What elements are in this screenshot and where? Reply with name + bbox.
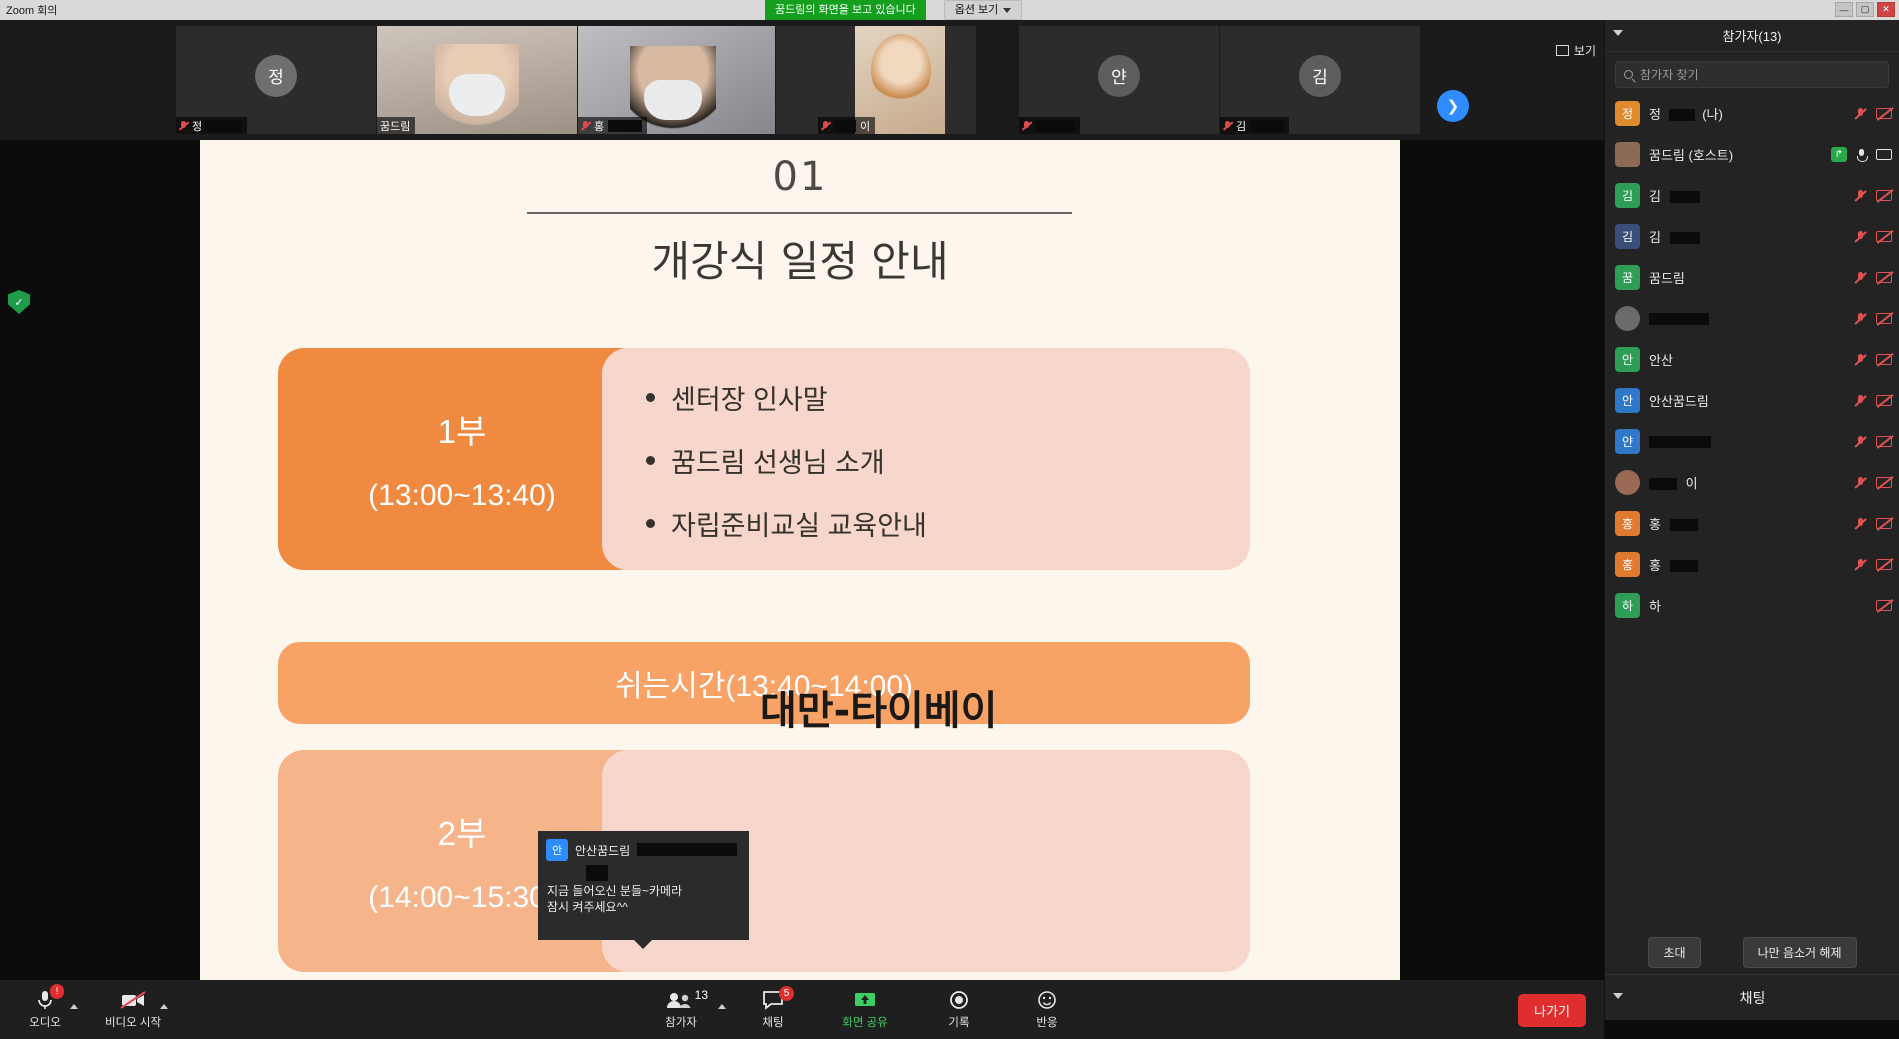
redacted-name — [1670, 519, 1698, 531]
avatar: 정 — [255, 55, 297, 97]
mic-muted-icon — [1854, 230, 1867, 244]
participant-name: 안산 — [1649, 350, 1854, 369]
session2-time: (14:00~15:30) — [368, 881, 556, 915]
shared-screen-area: 01 개강식 일정 안내 1부 (13:00~13:40) 센터장 인사말 꿈드… — [0, 140, 1604, 990]
audio-button[interactable]: 오디오 ! — [14, 980, 76, 1039]
reactions-icon — [1037, 989, 1057, 1011]
participant-row[interactable]: 하 하 — [1605, 585, 1899, 626]
audio-label: 오디오 — [29, 1014, 61, 1030]
bullet-icon — [646, 456, 655, 465]
participant-name: 하 — [1649, 596, 1876, 615]
audio-alert-badge: ! — [50, 984, 64, 999]
video-tile-nameplate: 이 — [818, 117, 875, 134]
presentation-slide: 01 개강식 일정 안내 1부 (13:00~13:40) 센터장 인사말 꿈드… — [200, 140, 1400, 980]
mic-muted-icon — [1854, 394, 1867, 408]
record-icon — [949, 989, 969, 1011]
participant-status-icons — [1876, 600, 1892, 611]
grid-view-icon — [1556, 45, 1569, 56]
video-tile-nameplate: 정 — [176, 117, 247, 134]
participant-name: 이 — [1649, 473, 1854, 492]
participant-name: 김 — [1649, 227, 1854, 246]
chat-toast-message-line1: 지금 들어오신 분들~카메라 — [547, 883, 740, 899]
share-screen-icon — [853, 989, 877, 1011]
share-screen-button[interactable]: 화면 공유 — [828, 980, 902, 1039]
participant-name: 김 — [1649, 186, 1854, 205]
avatar: 김 — [1299, 55, 1341, 97]
video-tile-kim[interactable]: 김 김 — [1220, 26, 1420, 134]
minimize-button[interactable]: — — [1835, 2, 1853, 17]
leave-meeting-button[interactable]: 나가기 — [1518, 994, 1586, 1027]
participant-status-icons — [1854, 312, 1892, 326]
sharing-notice: 꿈드림의 화면을 보고 있습니다 — [765, 0, 926, 20]
participant-list[interactable]: 정 정 (나) 꿈드림 (호스트) ↱ — [1605, 93, 1899, 930]
camera-off-icon — [1876, 559, 1892, 570]
maximize-button[interactable]: ▢ — [1856, 2, 1874, 17]
mic-on-icon — [1856, 148, 1867, 162]
participants-panel-title: 참가자(13) — [1723, 26, 1782, 45]
agenda-item: 꿈드림 선생님 소개 — [646, 441, 1250, 480]
view-options-button[interactable]: 옵션 보기 — [944, 0, 1023, 20]
redacted-name — [1035, 120, 1075, 132]
video-tile-kkumdrim[interactable]: 꿈드림 — [377, 26, 577, 134]
video-tile-nameplate: 김 — [1220, 117, 1289, 134]
redacted-name — [834, 120, 856, 132]
redacted-name — [206, 120, 242, 132]
redacted-name — [1250, 120, 1284, 132]
mic-muted-icon — [1854, 517, 1867, 531]
chat-panel-title: 채팅 — [1740, 988, 1766, 1008]
avatar: 김 — [1615, 183, 1640, 208]
window-controls: — ▢ ✕ — [1835, 2, 1895, 17]
camera-off-icon — [1876, 272, 1892, 283]
participant-row[interactable]: 안 안산꿈드림 — [1605, 380, 1899, 421]
destination-label: 대만-타이베이 — [760, 678, 997, 736]
participant-name: 정 — [192, 118, 202, 134]
mic-muted-icon — [1022, 120, 1031, 132]
participants-menu-caret-icon[interactable] — [718, 1004, 726, 1009]
participant-status-icons — [1854, 476, 1892, 490]
chat-button[interactable]: 채팅 5 — [742, 980, 804, 1039]
reactions-label: 반응 — [1036, 1014, 1057, 1030]
avatar: 하 — [1615, 593, 1640, 618]
chat-toast-message-line2: 잠시 켜주세요^^ — [547, 899, 740, 915]
redacted-name — [1670, 560, 1698, 572]
video-thumbnail-strip: 정 정 꿈드림 홍 — [0, 20, 1604, 140]
camera-off-icon — [1876, 313, 1892, 324]
session1-time: (13:00~13:40) — [368, 479, 556, 513]
redacted-name — [608, 120, 642, 132]
camera-off-icon — [119, 989, 147, 1011]
session1-block: 1부 (13:00~13:40) — [278, 348, 646, 570]
participant-status-icons — [1854, 394, 1892, 408]
chevron-down-icon[interactable] — [1613, 30, 1623, 36]
avatar: 김 — [1615, 224, 1640, 249]
participant-row[interactable]: 이 — [1605, 462, 1899, 503]
agenda-item-label: 꿈드림 선생님 소개 — [671, 441, 885, 480]
participants-panel: 참가자(13) 참가자 찾기 정 정 (나) 꿈드림 ( — [1604, 20, 1899, 1020]
redacted-text — [586, 865, 608, 881]
search-icon — [1624, 70, 1633, 79]
avatar — [1615, 470, 1640, 495]
mic-muted-icon — [179, 120, 188, 132]
camera-off-icon — [1876, 518, 1892, 529]
redacted-name — [1669, 109, 1695, 121]
close-button[interactable]: ✕ — [1877, 2, 1895, 17]
video-tile-nameplate: 꿈드림 — [377, 117, 415, 134]
participants-panel-header: 참가자(13) — [1605, 20, 1899, 52]
mic-muted-icon — [821, 120, 830, 132]
participant-status-icons — [1854, 558, 1892, 572]
chat-panel-header[interactable]: 채팅 — [1605, 974, 1899, 1020]
participant-name: 홍 — [594, 118, 604, 134]
camera-off-icon — [1876, 231, 1892, 242]
chat-toast-sender: 안산꿈드림 — [575, 839, 630, 859]
next-page-button[interactable]: ❯ — [1437, 90, 1469, 122]
video-tile-hong[interactable]: 홍 — [578, 26, 775, 134]
redacted-name — [1649, 313, 1709, 325]
record-button[interactable]: 기록 — [928, 980, 990, 1039]
participants-icon — [666, 989, 696, 1011]
participant-name: 홍 — [1649, 555, 1854, 574]
reactions-button[interactable]: 반응 — [1016, 980, 1078, 1039]
share-screen-label: 화면 공유 — [842, 1014, 888, 1030]
camera-off-icon — [1876, 108, 1892, 119]
camera-off-icon — [1876, 477, 1892, 488]
participant-search-box[interactable]: 참가자 찾기 — [1615, 61, 1889, 88]
chevron-down-icon[interactable] — [1613, 993, 1623, 999]
participant-row[interactable]: 얀 — [1605, 421, 1899, 462]
mic-muted-icon — [1854, 476, 1867, 490]
window-title: Zoom 회의 — [6, 2, 57, 18]
participant-status-icons — [1854, 435, 1892, 449]
participant-row[interactable]: 안 안산 — [1605, 339, 1899, 380]
redacted-sender-suffix — [637, 843, 737, 856]
avatar — [1615, 142, 1640, 167]
agenda-item-label: 센터장 인사말 — [671, 378, 828, 417]
video-button[interactable]: 비디오 시작 — [102, 980, 164, 1039]
agenda-item: 센터장 인사말 — [646, 378, 1250, 417]
shield-icon: ✓ — [8, 290, 30, 314]
audio-menu-caret-icon[interactable] — [70, 1004, 78, 1009]
view-options-label: 옵션 보기 — [955, 0, 999, 20]
bullet-icon — [646, 393, 655, 402]
mic-muted-icon — [1854, 271, 1867, 285]
participants-count: 13 — [695, 988, 708, 1002]
video-tile-nameplate: 홍 — [578, 117, 647, 134]
video-tile-jeong[interactable]: 정 정 — [176, 26, 376, 134]
redacted-name — [1649, 436, 1711, 448]
participant-row[interactable] — [1605, 298, 1899, 339]
avatar: 안 — [546, 839, 568, 861]
mic-muted-icon — [1854, 558, 1867, 572]
agenda-item: 자립준비교실 교육안내 — [646, 504, 1250, 543]
mic-muted-icon — [1854, 107, 1867, 121]
video-tile-lee-nameplate-holder: 이 — [818, 26, 1018, 134]
participant-row[interactable]: 김 김 — [1605, 216, 1899, 257]
session2-part: 2부 — [438, 807, 487, 855]
chevron-right-icon: ❯ — [1447, 97, 1460, 115]
camera-off-icon — [1876, 395, 1892, 406]
camera-on-icon — [1876, 149, 1892, 160]
avatar: 안 — [1615, 347, 1640, 372]
redacted-name — [1649, 478, 1677, 490]
participant-name: 이 — [860, 118, 870, 134]
record-label: 기록 — [948, 1014, 969, 1030]
participants-label: 참가자 — [665, 1014, 697, 1030]
participant-status-icons — [1854, 189, 1892, 203]
agenda-item-label: 자립준비교실 교육안내 — [671, 504, 927, 543]
video-tile-nameplate — [1019, 117, 1080, 134]
participant-name — [1649, 311, 1854, 326]
meeting-toolbar: 오디오 ! 비디오 시작 참가자 13 채팅 5 — [0, 980, 1604, 1039]
participant-name: 꿈드림 (호스트) — [1649, 145, 1831, 164]
avatar: 홍 — [1615, 552, 1640, 577]
mic-muted-icon — [1854, 312, 1867, 326]
avatar: 안 — [1615, 388, 1640, 413]
chat-toast-header: 안 안산꿈드림 — [538, 831, 749, 861]
video-menu-caret-icon[interactable] — [160, 1004, 168, 1009]
session1-part: 1부 — [438, 405, 487, 453]
participant-row[interactable]: 홍 홍 — [1605, 544, 1899, 585]
participant-name: 홍 — [1649, 514, 1854, 533]
unmute-me-button[interactable]: 나만 음소거 해제 — [1743, 937, 1857, 968]
participant-name: 꿈드림 — [380, 118, 410, 134]
participant-name: 김 — [1236, 118, 1246, 134]
participant-row[interactable]: 홍 홍 — [1605, 503, 1899, 544]
participants-button[interactable]: 참가자 13 — [646, 980, 716, 1039]
camera-off-icon — [1876, 436, 1892, 447]
participant-row[interactable]: 꿈 꿈드림 — [1605, 257, 1899, 298]
leave-label: 나가기 — [1534, 1004, 1570, 1019]
participant-status-icons — [1854, 517, 1892, 531]
avatar: 정 — [1615, 101, 1640, 126]
sharing-status-bar: 꿈드림의 화면을 보고 있습니다 옵션 보기 — [765, 0, 1022, 20]
participant-status-icons — [1854, 353, 1892, 367]
participant-name — [1649, 434, 1854, 449]
chat-toast-popup[interactable]: 안 안산꿈드림 지금 들어오신 분들~카메라 잠시 켜주세요^^ — [538, 831, 749, 940]
session1-agenda: 센터장 인사말 꿈드림 선생님 소개 자립준비교실 교육안내 — [602, 348, 1250, 570]
chat-label: 채팅 — [762, 1014, 783, 1030]
mic-muted-icon — [1223, 120, 1232, 132]
chat-toast-message: 지금 들어오신 분들~카메라 잠시 켜주세요^^ — [538, 877, 749, 915]
participant-status-icons — [1854, 107, 1892, 121]
participant-status-icons: ↱ — [1831, 147, 1892, 162]
avatar: 홍 — [1615, 511, 1640, 536]
invite-button[interactable]: 초대 — [1648, 937, 1700, 968]
video-label: 비디오 시작 — [105, 1014, 161, 1030]
window-titlebar: Zoom 회의 꿈드림의 화면을 보고 있습니다 옵션 보기 — ▢ ✕ — [0, 0, 1899, 20]
mic-muted-icon — [1854, 435, 1867, 449]
participant-name: 안산꿈드림 — [1649, 391, 1854, 410]
view-mode-label: 보기 — [1574, 42, 1596, 59]
participant-status-icons — [1854, 230, 1892, 244]
slide-title: 개강식 일정 안내 — [200, 228, 1400, 289]
slide-divider — [527, 212, 1072, 214]
participants-panel-footer: 초대 나만 음소거 해제 — [1605, 930, 1899, 974]
slide-number: 01 — [200, 154, 1400, 200]
participant-name: 정 (나) — [1649, 104, 1854, 123]
redacted-name — [1670, 191, 1700, 203]
participant-status-icons — [1854, 271, 1892, 285]
mic-muted-icon — [1854, 189, 1867, 203]
avatar: 얀 — [1098, 55, 1140, 97]
view-mode-button[interactable]: 보기 — [1556, 42, 1596, 59]
mic-muted-icon — [1854, 353, 1867, 367]
video-tile-yan[interactable]: 얀 — [1019, 26, 1219, 134]
participant-search-placeholder: 참가자 찾기 — [1640, 66, 1699, 83]
zoom-meeting-window: Zoom 회의 꿈드림의 화면을 보고 있습니다 옵션 보기 — ▢ ✕ 정 정 — [0, 0, 1899, 1039]
avatar: 얀 — [1615, 429, 1640, 454]
avatar — [1615, 306, 1640, 331]
participant-row[interactable]: 꿈드림 (호스트) ↱ — [1605, 134, 1899, 175]
participant-row[interactable]: 정 정 (나) — [1605, 93, 1899, 134]
participant-row[interactable]: 김 김 — [1605, 175, 1899, 216]
camera-off-icon — [1876, 600, 1892, 611]
avatar: 꿈 — [1615, 265, 1640, 290]
participant-name: 꿈드림 — [1649, 268, 1854, 287]
mic-muted-icon — [581, 120, 590, 132]
camera-off-icon — [1876, 354, 1892, 365]
chevron-down-icon — [1003, 8, 1011, 13]
host-badge: ↱ — [1831, 147, 1847, 162]
bullet-icon — [646, 519, 655, 528]
redacted-name — [1670, 232, 1700, 244]
camera-off-icon — [1876, 190, 1892, 201]
chat-unread-badge: 5 — [779, 986, 794, 1001]
